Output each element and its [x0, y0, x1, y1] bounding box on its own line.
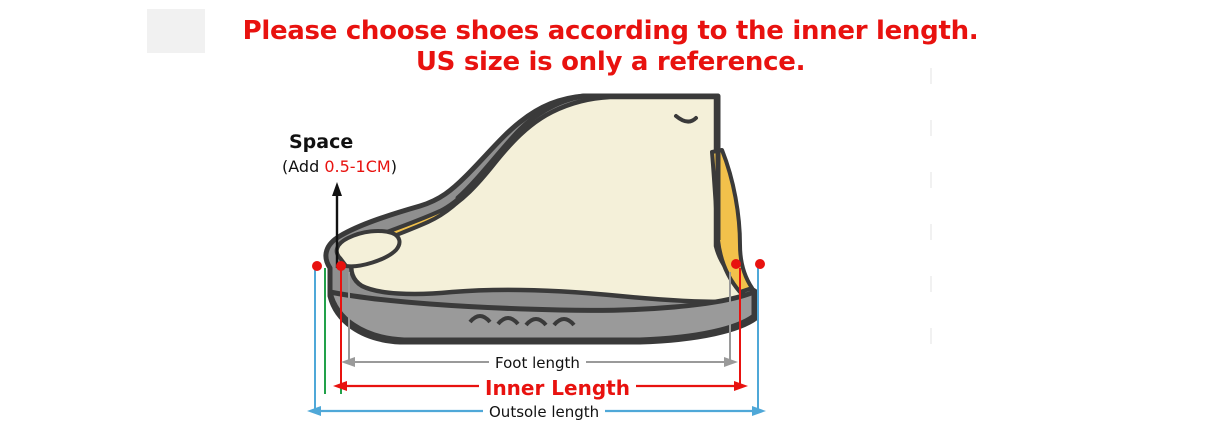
red-dot-heel-inner — [731, 259, 741, 269]
space-arrow-head — [332, 182, 342, 196]
space-sub-value: 0.5-1CM — [324, 157, 390, 176]
diagram-root: Please choose shoes according to the inn… — [0, 0, 1221, 429]
red-dot-toe-outer — [312, 261, 322, 271]
shoe-illustration — [0, 0, 1221, 429]
foot-length-label: Foot length — [489, 354, 586, 372]
space-sub-suffix: ) — [391, 157, 397, 176]
space-sub-label: (Add 0.5-1CM) — [282, 157, 397, 177]
red-dot-heel-outer — [755, 259, 765, 269]
foot-shape — [351, 97, 744, 302]
space-label: Space — [289, 131, 353, 154]
outsole-length-label: Outsole length — [483, 403, 605, 421]
red-dot-toe-inner — [336, 261, 346, 271]
space-sub-prefix: (Add — [282, 157, 324, 176]
inner-length-label: Inner Length — [479, 376, 636, 400]
